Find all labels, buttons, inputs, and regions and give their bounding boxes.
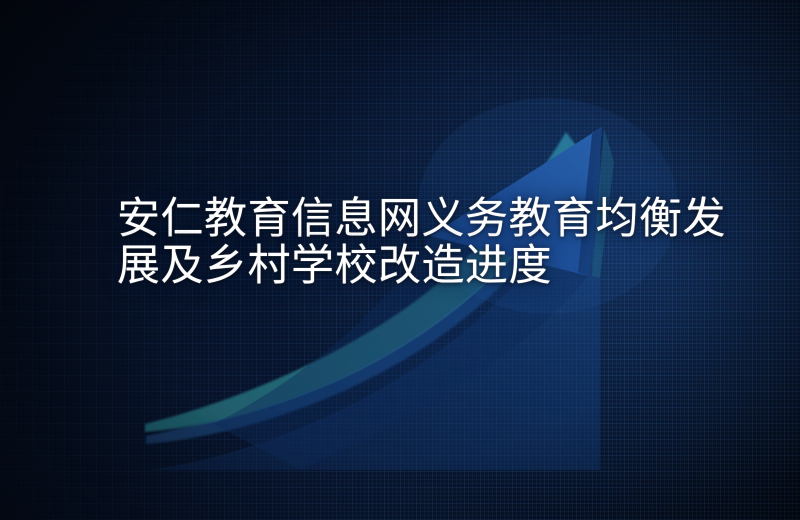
banner-title: 安仁教育信息网义务教育均衡发 展及乡村学校改造进度 bbox=[117, 196, 717, 290]
title-line-1: 安仁教育信息网义务教育均衡发 bbox=[117, 196, 717, 243]
title-line-2: 展及乡村学校改造进度 bbox=[117, 243, 717, 290]
banner-image: 安仁教育信息网义务教育均衡发 展及乡村学校改造进度 bbox=[0, 0, 800, 520]
